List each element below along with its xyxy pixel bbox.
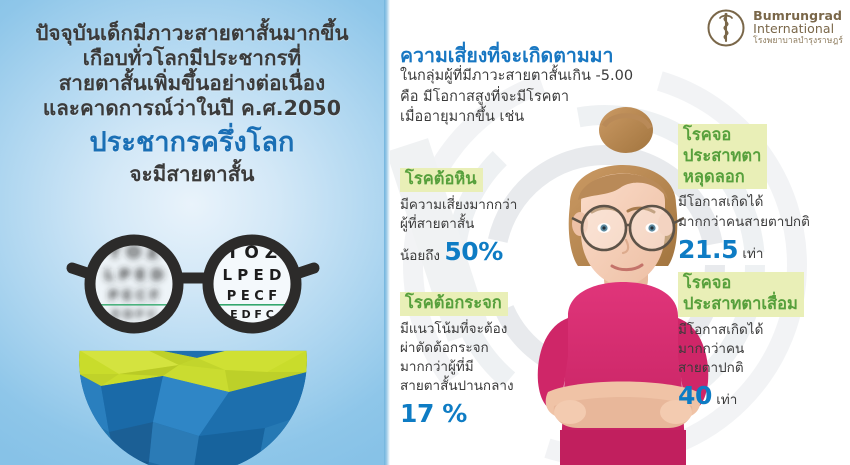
block-body-line: น้อยถึง [400,248,440,264]
block-body-line: ผ่าตัดต้อกระจก [400,339,558,358]
block-title-line: หลุดลอก [683,167,761,188]
block-body-line: มากกว่าคน [678,340,850,359]
block-unit-retinal-detachment: เท่า [742,246,763,262]
block-value-row: 40 เท่า [678,378,850,414]
logo-line-2: International [753,23,843,36]
svg-text:P E C F: P E C F [227,289,277,304]
svg-text:L P E D: L P E D [223,266,282,284]
block-title-line: โรคต้อหิน [405,169,477,190]
block-title-line: โรคต้อกระจก [405,293,502,314]
block-title-glaucoma: โรคต้อหิน [400,168,483,192]
logo-text-block: Bumrungrad International โรงพยาบาลบำรุงร… [753,10,843,45]
svg-text:L P E D: L P E D [105,266,164,284]
headline-tail: จะมีสายตาสั้น [0,163,384,186]
bumrungrad-logo: Bumrungrad International โรงพยาบาลบำรุงร… [706,8,843,48]
block-value-glaucoma: 50% [444,237,503,266]
block-unit-macular-degeneration: เท่า [716,392,737,408]
svg-text:E D F C: E D F C [230,308,274,321]
risk-block-cataract: โรคต้อกระจก มีแนวโน้มที่จะต้อง ผ่าตัดต้อ… [400,292,558,432]
block-value-cataract: 17 % [400,396,558,432]
svg-text:E D F C: E D F C [112,308,156,321]
block-title-line: โรคจอ [683,125,761,146]
block-title-line: โรคจอ [683,273,798,294]
block-body-line: มีโอกาสเกิดได้ [678,193,850,212]
headline-line-1: ปัจจุบันเด็กมีภาวะสายตาสั้นมากขึ้น [0,22,384,45]
block-title-line: ประสาทตาเสื่อม [683,294,798,315]
block-body-retinal-detachment: มีโอกาสเกิดได้ มากกว่าคนสายตาปกติ 21.5 เ… [678,193,850,267]
block-body-line: สายตาปกติ [678,359,850,378]
risk-block-glaucoma: โรคต้อหิน มีความเสี่ยงมากกว่า ผู้ที่สายต… [400,168,552,270]
block-title-cataract: โรคต้อกระจก [400,292,508,316]
block-body-glaucoma: มีความเสี่ยงมากกว่า ผู้ที่สายตาสั้น น้อย… [400,196,552,270]
block-body-cataract: มีแนวโน้มที่จะต้อง ผ่าตัดต้อกระจก มากกว่… [400,320,558,432]
block-body-line: ผู้ที่สายตาสั้น [400,215,552,234]
subtitle-line-2: คือ มีโอกาสสูงที่จะมีโรคตา [400,87,633,108]
right-panel: Bumrungrad International โรงพยาบาลบำรุงร… [390,0,850,465]
block-body-macular-degeneration: มีโอกาสเกิดได้ มากกว่าคน สายตาปกติ 40 เท… [678,321,850,414]
globe-glasses-illustration: T O Z L P E D P E C F E D F C T O Z L P … [62,228,324,443]
risk-block-retinal-detachment: โรคจอ ประสาทตา หลุดลอก มีโอกาสเกิดได้ มา… [678,124,850,267]
block-value-macular-degeneration: 40 [678,381,712,410]
risk-block-macular-degeneration: โรคจอ ประสาทตาเสื่อม มีโอกาสเกิดได้ มากก… [678,272,850,414]
headline-line-4: และคาดการณ์ว่าในปี ค.ศ.2050 [0,97,384,120]
block-body-line: มีโอกาสเกิดได้ [678,321,850,340]
block-body-line: สายตาสั้นปานกลาง [400,377,558,396]
block-value-row: น้อยถึง 50% [400,234,552,270]
eyeglasses-icon: T O Z L P E D P E C F E D F C T O Z L P … [62,228,324,348]
block-body-line: มากกว่าคนสายตาปกติ [678,213,850,232]
block-value-retinal-detachment: 21.5 [678,235,738,264]
block-title-line: ประสาทตา [683,146,761,167]
block-body-line: มีแนวโน้มที่จะต้อง [400,320,558,339]
subtitle-line-1: ในกลุ่มผู้ที่มีภาวะสายตาสั้นเกิน -5.00 [400,66,633,87]
caduceus-icon [706,8,746,48]
block-value-row: 21.5 เท่า [678,232,850,268]
infographic-poster: ปัจจุบันเด็กมีภาวะสายตาสั้นมากขึ้น เกือบ… [0,0,850,465]
headline-line-3: สายตาสั้นเพิ่มขึ้นอย่างต่อเนื่อง [0,72,384,95]
headline-emphasis: ประชากรครึ่งโลก [0,128,384,158]
block-body-line: มีความเสี่ยงมากกว่า [400,196,552,215]
block-title-retinal-detachment: โรคจอ ประสาทตา หลุดลอก [678,124,767,189]
svg-text:P E C F: P E C F [109,289,159,304]
left-panel: ปัจจุบันเด็กมีภาวะสายตาสั้นมากขึ้น เกือบ… [0,0,384,465]
headline-line-2: เกือบทั่วโลกมีประชากรที่ [0,47,384,70]
logo-line-3-thai: โรงพยาบาลบำรุงราษฎร์ [753,37,843,46]
block-body-line: มากกว่าผู้ที่มี [400,358,558,377]
block-title-macular-degeneration: โรคจอ ประสาทตาเสื่อม [678,272,804,317]
